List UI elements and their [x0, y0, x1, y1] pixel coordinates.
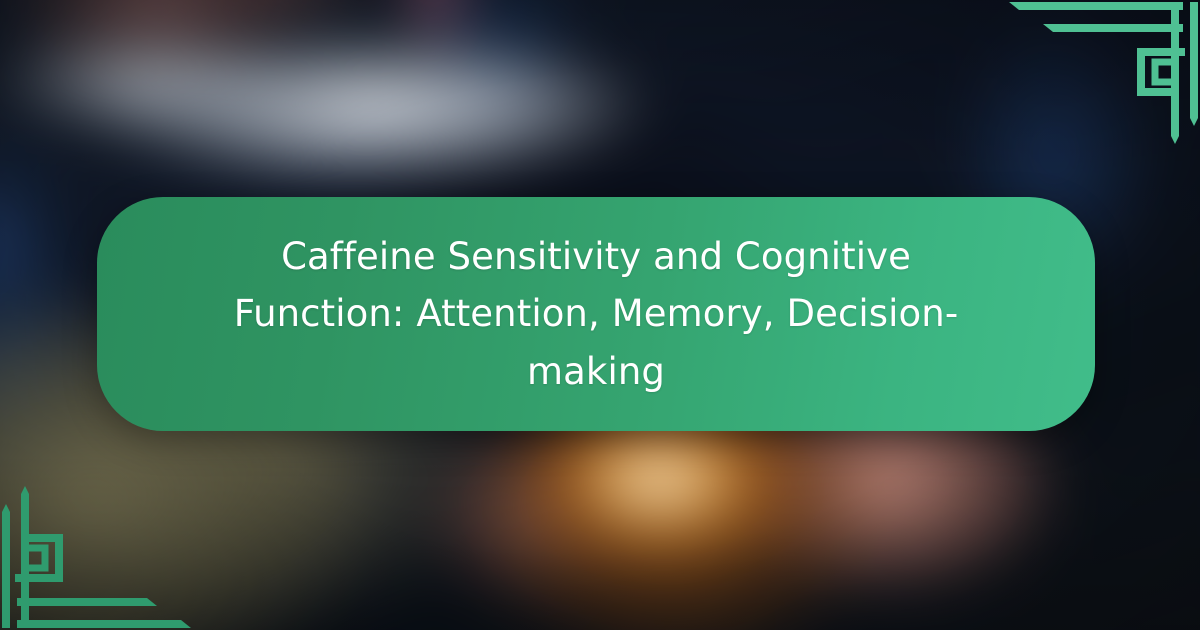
- preview-card-canvas: Caffeine Sensitivity and Cognitive Funct…: [0, 0, 1200, 630]
- page-title: Caffeine Sensitivity and Cognitive Funct…: [206, 228, 986, 400]
- title-card: Caffeine Sensitivity and Cognitive Funct…: [97, 197, 1095, 431]
